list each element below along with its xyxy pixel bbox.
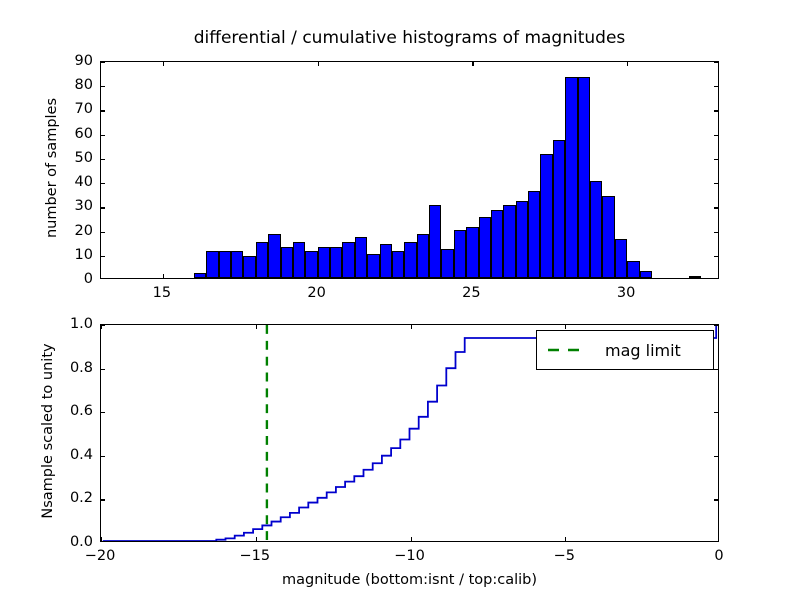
histogram-bar <box>516 201 528 279</box>
x-tick <box>472 62 473 66</box>
x-tick-label: −5 <box>554 548 575 564</box>
y-tick-label: 80 <box>0 77 93 93</box>
y-tick-label: 50 <box>0 150 93 166</box>
histogram-bar <box>491 210 503 278</box>
histogram-bar <box>602 196 614 278</box>
x-tick <box>565 325 566 329</box>
histogram-bar <box>206 251 218 278</box>
y-tick <box>714 256 718 257</box>
y-tick <box>714 110 718 111</box>
x-tick <box>256 325 257 329</box>
y-tick <box>101 183 105 184</box>
histogram-bar <box>367 254 379 278</box>
y-tick <box>101 135 105 136</box>
histogram-bar <box>231 251 243 278</box>
x-tick <box>256 537 257 541</box>
x-tick <box>318 62 319 66</box>
histogram-bar <box>330 247 342 278</box>
histogram-bar <box>417 234 429 278</box>
matplotlib-figure: differential / cumulative histograms of … <box>0 0 800 600</box>
y-tick-label: 0.8 <box>0 360 93 376</box>
mag-limit-dashed-line-icon <box>547 343 589 357</box>
y-tick <box>101 232 105 233</box>
x-tick-label: 0 <box>714 548 723 564</box>
y-tick-label: 0.4 <box>0 447 93 463</box>
y-tick <box>101 499 105 500</box>
x-tick-label: 20 <box>307 285 325 301</box>
y-tick-label: 70 <box>0 101 93 117</box>
y-tick <box>714 499 718 500</box>
histogram-bar <box>627 261 639 278</box>
histogram-bar <box>454 230 466 278</box>
histogram-bar <box>441 249 453 278</box>
y-tick-label: 20 <box>0 223 93 239</box>
x-tick <box>627 62 628 66</box>
y-tick <box>101 159 105 160</box>
x-tick <box>411 325 412 329</box>
y-tick <box>714 325 718 326</box>
histogram-bar <box>293 242 305 278</box>
histogram-bar <box>429 205 441 278</box>
y-tick <box>714 369 718 370</box>
histogram-bar <box>615 239 627 278</box>
y-tick <box>101 62 105 63</box>
bottom-y-axis-label: Nsample scaled to unity <box>40 322 56 540</box>
y-tick-label: 0.6 <box>0 403 93 419</box>
x-tick-label: 15 <box>153 285 171 301</box>
histogram-bar <box>268 234 280 278</box>
histogram-bar <box>540 154 552 278</box>
y-tick <box>714 135 718 136</box>
y-tick <box>101 412 105 413</box>
y-tick-label: 0 <box>0 271 93 287</box>
y-tick-label: 0.0 <box>0 534 93 550</box>
y-tick <box>714 456 718 457</box>
histogram-bar <box>194 273 206 278</box>
y-tick <box>101 456 105 457</box>
y-tick-label: 60 <box>0 126 93 142</box>
y-tick-label: 40 <box>0 174 93 190</box>
histogram-bar <box>479 217 491 278</box>
x-tick-label: −10 <box>394 548 425 564</box>
histogram-bar <box>466 227 478 278</box>
x-axis-label: magnitude (bottom:isnt / top:calib) <box>100 572 719 588</box>
y-tick <box>101 110 105 111</box>
histogram-bar <box>528 191 540 278</box>
x-tick <box>101 537 102 541</box>
histogram-bar <box>404 242 416 278</box>
y-tick <box>101 256 105 257</box>
histogram-bar <box>380 244 392 278</box>
y-tick <box>714 232 718 233</box>
x-tick-label: 30 <box>617 285 635 301</box>
x-tick-label: −20 <box>85 548 116 564</box>
y-tick <box>101 207 105 208</box>
y-tick-label: 90 <box>0 53 93 69</box>
y-tick <box>714 62 718 63</box>
y-tick-label: 1.0 <box>0 316 93 332</box>
y-tick <box>101 86 105 87</box>
y-tick <box>714 412 718 413</box>
histogram-bar <box>503 205 515 278</box>
histogram-bar <box>219 251 231 278</box>
histogram-bar <box>342 242 354 278</box>
y-tick <box>714 183 718 184</box>
histogram-bar <box>565 77 577 278</box>
histogram-bar <box>640 271 652 278</box>
top-plot-surface <box>101 62 718 278</box>
y-tick-label: 30 <box>0 198 93 214</box>
x-tick-label: 25 <box>462 285 480 301</box>
legend-label-mag-limit: mag limit <box>605 341 681 360</box>
x-tick <box>163 274 164 278</box>
histogram-bar <box>689 276 701 278</box>
x-tick <box>411 537 412 541</box>
histogram-bar <box>318 247 330 278</box>
figure-title: differential / cumulative histograms of … <box>100 28 719 48</box>
histogram-bar <box>355 237 367 278</box>
histogram-bar <box>590 181 602 278</box>
x-tick-label: −15 <box>239 548 270 564</box>
histogram-bar <box>578 77 590 278</box>
histogram-bar <box>305 251 317 278</box>
y-tick <box>714 207 718 208</box>
x-tick <box>163 62 164 66</box>
histogram-bar <box>243 256 255 278</box>
top-histogram-axes <box>100 61 719 279</box>
y-tick-label: 10 <box>0 247 93 263</box>
histogram-bar <box>553 140 565 278</box>
y-tick <box>714 86 718 87</box>
x-tick <box>565 537 566 541</box>
y-tick <box>714 159 718 160</box>
y-tick-label: 0.2 <box>0 490 93 506</box>
histogram-bar <box>281 247 293 278</box>
y-tick <box>101 325 105 326</box>
y-tick <box>101 369 105 370</box>
legend[interactable]: mag limit <box>536 330 714 370</box>
histogram-bar <box>256 242 268 278</box>
histogram-bar <box>392 251 404 278</box>
